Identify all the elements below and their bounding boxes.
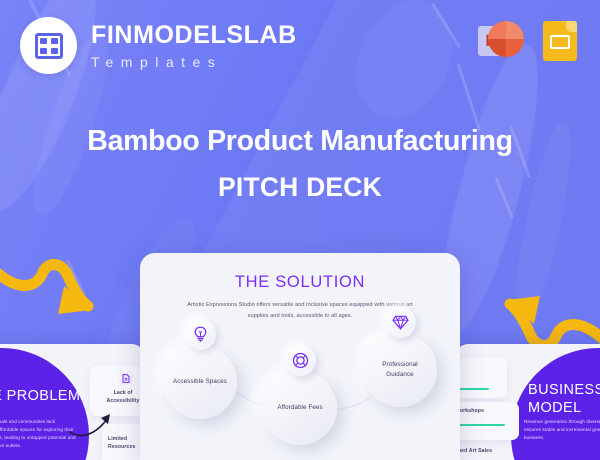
app-format-icons: P	[478, 17, 583, 63]
solution-card[interactable]: THE SOLUTION Artistic Expressions Studio…	[140, 253, 460, 460]
feature-circle[interactable]: Affordable Fees	[263, 371, 337, 445]
feature-label: Accessible Spaces	[165, 377, 235, 387]
business-item-label: Commissioned Art Sales	[453, 448, 503, 456]
business-body: Revenue generation through diverse strea…	[524, 418, 600, 442]
feature-label: Affordable Fees	[269, 403, 330, 413]
brand-name: FINMODELSLAB	[91, 23, 297, 48]
page-subtitle: PITCH DECK	[0, 173, 600, 202]
page-title: Bamboo Product Manufacturing	[0, 126, 600, 157]
problem-pointer-arrow-icon	[68, 406, 118, 440]
accent-line	[455, 424, 505, 426]
hero-title-block: Bamboo Product Manufacturing PITCH DECK	[0, 126, 600, 202]
google-slides-icon[interactable]	[537, 17, 583, 63]
page-header: FINMODELSLAB Templates P	[0, 0, 600, 96]
solution-heading: THE SOLUTION	[140, 273, 460, 292]
solution-subtitle: Artistic Expressions Studio offers versa…	[186, 300, 414, 322]
feature-circle[interactable]: Accessible Spaces	[163, 345, 237, 419]
business-title: BUSINESS MODEL	[528, 382, 600, 417]
business-model-card[interactable]: BUSINESS MODEL Revenue generation throug…	[453, 344, 600, 460]
problem-card[interactable]: THE PROBLEM Many individuals and communi…	[0, 344, 147, 460]
brand-logo[interactable]: FINMODELSLAB Templates	[20, 17, 297, 74]
lightbulb-icon	[185, 319, 216, 350]
problem-title: THE PROBLEM	[0, 388, 92, 406]
document-icon	[119, 372, 132, 385]
squiggly-arrow-down-right-icon	[0, 244, 104, 333]
grid-window-icon	[35, 33, 63, 59]
logo-circle	[20, 17, 77, 74]
diamond-icon	[385, 307, 416, 338]
feature-label: Professional Guidance	[363, 360, 437, 379]
business-item-label: Workshops	[455, 408, 511, 416]
coin-circle-icon	[285, 345, 316, 376]
brand-text: FINMODELSLAB Templates	[91, 23, 297, 69]
brand-subtitle: Templates	[91, 55, 297, 69]
business-item-card[interactable]	[453, 358, 507, 398]
powerpoint-icon[interactable]: P	[478, 17, 524, 63]
feature-circle[interactable]: Professional Guidance	[363, 333, 437, 407]
